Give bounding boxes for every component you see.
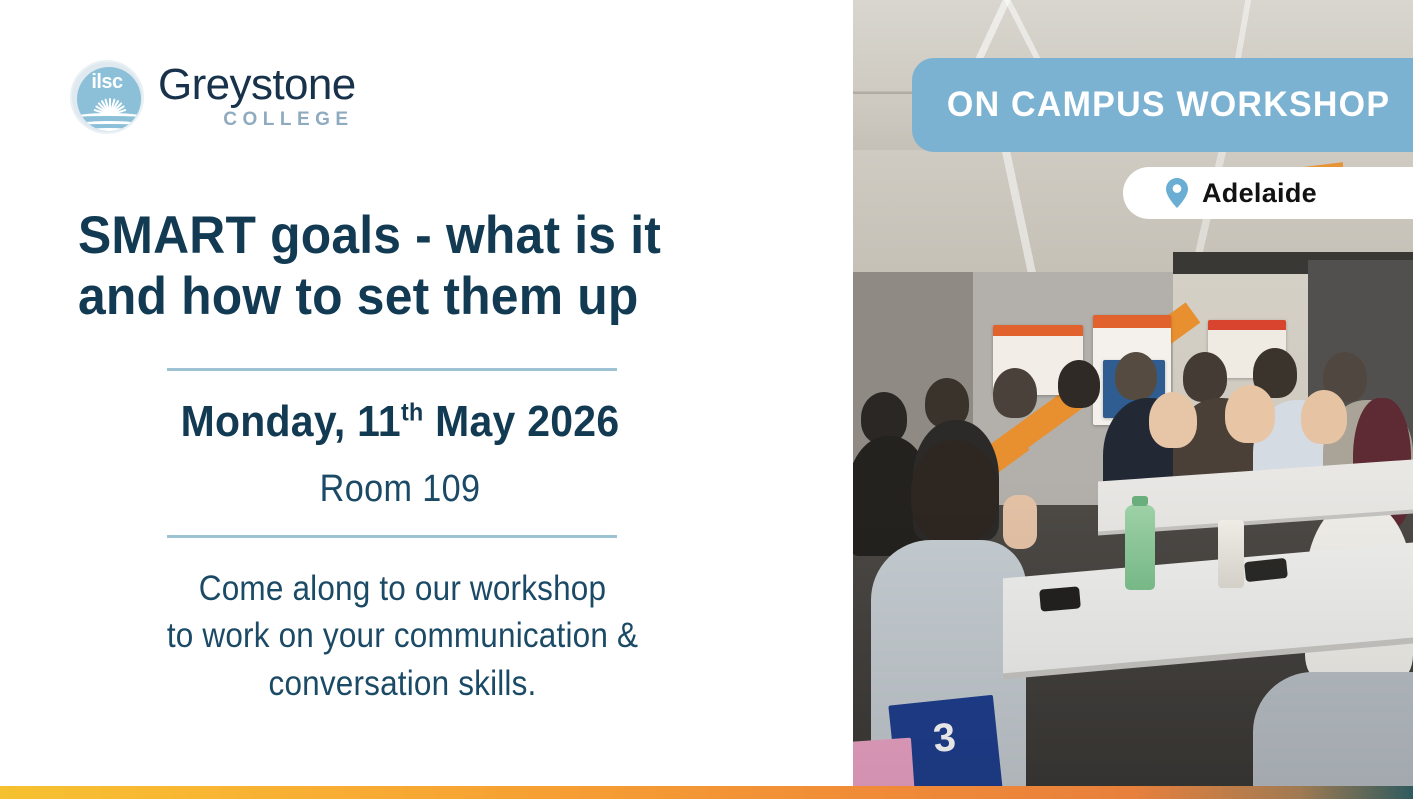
banner-label: ON CAMPUS WORKSHOP — [912, 85, 1390, 125]
event-description: Come along to our workshop to work on yo… — [40, 565, 765, 707]
photo-water-bottle — [1125, 505, 1155, 590]
photo-person-coat — [1253, 672, 1413, 790]
greystone-text: Greystone — [158, 63, 356, 108]
photo-person — [993, 368, 1037, 418]
greystone-college-wordmark: Greystone COLLEGE — [158, 63, 356, 132]
divider-bottom — [167, 535, 617, 538]
photo-person — [1183, 352, 1227, 402]
divider-top — [167, 368, 617, 371]
wave-icon-1 — [77, 113, 141, 118]
map-pin-icon — [1165, 178, 1189, 208]
on-campus-workshop-banner: ON CAMPUS WORKSHOP — [912, 58, 1413, 152]
photo-thermos — [1218, 520, 1244, 588]
description-line-3: conversation skills. — [40, 660, 765, 707]
description-line-2: to work on your communication & — [40, 612, 765, 659]
photo-hand — [1003, 495, 1037, 549]
event-date: Monday, 11th May 2026 — [28, 398, 772, 446]
location-label: Adelaide — [1202, 178, 1317, 209]
photo-person — [1301, 390, 1347, 444]
photo-person — [1225, 385, 1275, 443]
photo-phone — [1039, 586, 1081, 611]
wave-icon-3 — [77, 128, 141, 131]
page-title: SMART goals - what is it and how to set … — [78, 205, 736, 328]
footer-gradient-bar — [0, 786, 1413, 799]
event-date-ordinal: th — [401, 398, 424, 426]
photo-person — [1058, 360, 1100, 408]
ilsc-circle-logo-icon: ilsc — [70, 60, 144, 134]
event-room: Room 109 — [40, 468, 760, 511]
left-content-panel: ilsc Greystone COLLEGE SMART goals - wha… — [0, 0, 853, 799]
event-date-month-year: May 2026 — [423, 397, 619, 446]
photo-flyer-pink — [853, 738, 915, 790]
photo-person — [1149, 392, 1197, 448]
brand-logo-lockup: ilsc Greystone COLLEGE — [70, 60, 356, 134]
photo-foreground-student-head — [911, 440, 999, 544]
workshop-poster: ilsc Greystone COLLEGE SMART goals - wha… — [0, 0, 1413, 799]
event-date-main: Monday, 11 — [181, 397, 401, 446]
ilsc-wordmark: ilsc — [72, 71, 142, 94]
description-line-1: Come along to our workshop — [40, 565, 765, 612]
location-badge: Adelaide — [1123, 167, 1413, 219]
photo-person — [1115, 352, 1157, 400]
college-text: COLLEGE — [158, 110, 356, 129]
wave-icon-2 — [77, 121, 141, 126]
